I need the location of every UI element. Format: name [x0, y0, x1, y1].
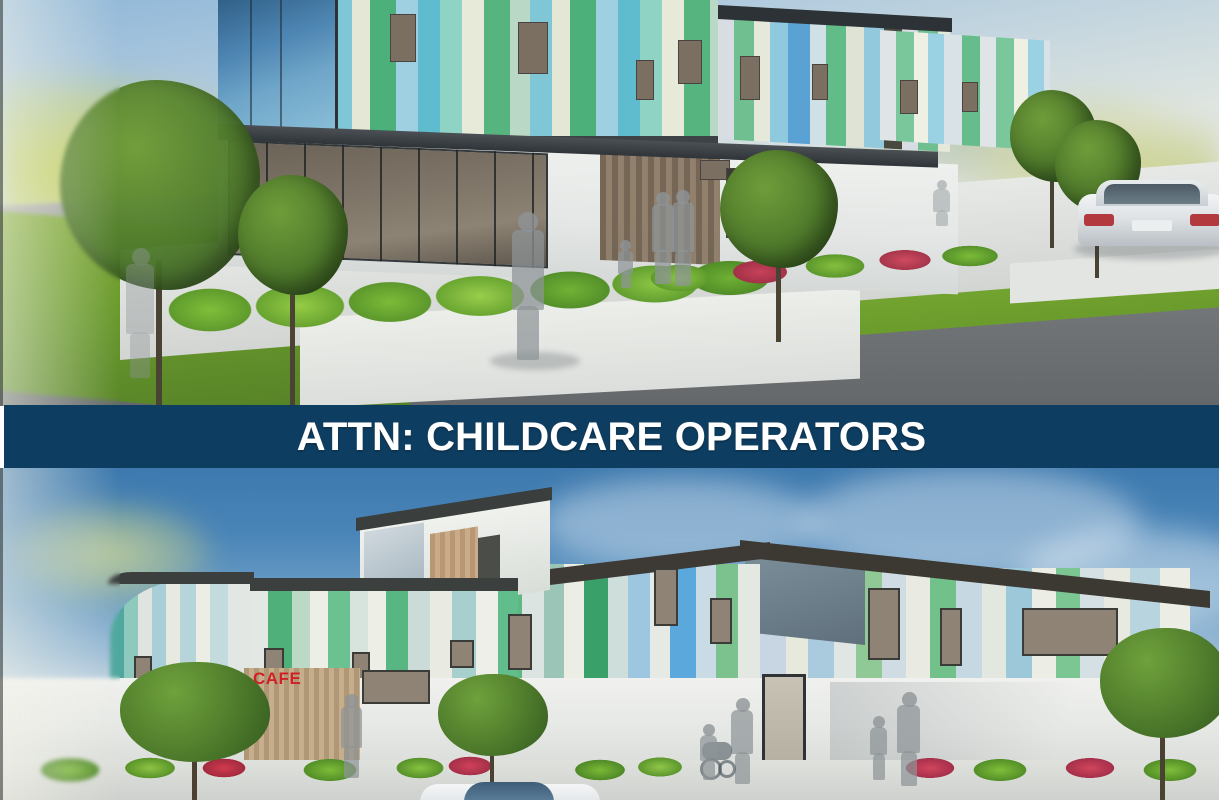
- car-numberplate: [1132, 220, 1172, 231]
- tree-canopy: [238, 175, 348, 295]
- pedestrian-group-far: [930, 180, 958, 226]
- pedestrian-legs: [703, 759, 715, 780]
- wall-window-lower-right: [362, 670, 430, 704]
- car-taillight-left: [1084, 214, 1114, 226]
- pedestrian-group-entry-b: [668, 190, 698, 286]
- pedestrian-body: [672, 202, 694, 252]
- window-upper-3: [678, 40, 702, 84]
- window-lower-7: [710, 598, 732, 644]
- pedestrian-legs: [901, 751, 917, 786]
- pedestrian-body: [700, 735, 717, 761]
- pedestrian-lower-child-right: [868, 716, 890, 780]
- pedestrian-body: [618, 250, 633, 274]
- roof-left-panel: [246, 578, 518, 591]
- pedestrian-legs: [517, 306, 539, 360]
- pedestrian-body: [897, 705, 920, 753]
- window-upper-8: [962, 82, 978, 112]
- pedestrian-pair-left: [120, 248, 164, 378]
- pedestrian-legs: [936, 210, 948, 226]
- window-upper-1: [390, 14, 416, 62]
- tree-canopy: [120, 662, 270, 762]
- car-lower: [420, 774, 600, 800]
- pedestrian-legs: [675, 250, 691, 286]
- pram-wheel-right: [718, 760, 736, 778]
- poster-canvas: ATTN: CHILDCARE OPERATORS: [0, 0, 1219, 800]
- car-windscreen: [464, 782, 554, 800]
- garden-bed-side-upper: [640, 244, 1060, 304]
- pedestrian-child-entry: [616, 240, 636, 288]
- attention-banner: ATTN: CHILDCARE OPERATORS: [4, 405, 1219, 468]
- window-lower-5: [508, 614, 532, 670]
- roof-curved-end: [108, 572, 254, 584]
- window-lower-8: [868, 588, 900, 660]
- pedestrian-body: [512, 230, 544, 310]
- pedestrian-legs: [130, 332, 150, 378]
- car-upper: [1078, 180, 1219, 262]
- window-lower-6: [654, 568, 678, 626]
- pedestrian-legs: [344, 746, 359, 778]
- top-render-image: [0, 0, 1219, 406]
- pedestrian-foreground: [508, 212, 548, 360]
- pedestrian-body: [870, 727, 887, 755]
- window-upper-4: [636, 60, 654, 100]
- window-lower-4: [450, 640, 474, 668]
- window-upper-5: [740, 56, 760, 100]
- car-rear-window: [1104, 184, 1200, 204]
- pedestrian-lower-cafe: [338, 694, 366, 778]
- tree-lower-right: [1100, 628, 1219, 798]
- window-lower-9: [940, 608, 962, 666]
- pedestrian-legs: [873, 753, 885, 780]
- pedestrian-lower-adult-right: [894, 692, 924, 786]
- banner-headline: ATTN: CHILDCARE OPERATORS: [297, 417, 926, 457]
- window-upper-6: [812, 64, 828, 100]
- pedestrian-body: [126, 264, 154, 334]
- tree-lower-left: [120, 662, 270, 800]
- pedestrian-body: [933, 189, 950, 212]
- pedestrian-legs: [621, 272, 631, 288]
- pedestrian-body: [341, 706, 362, 748]
- pedestrian-head: [518, 212, 538, 232]
- curtain-wall-mullions: [250, 0, 310, 144]
- window-upper-2: [518, 22, 548, 74]
- tree-canopy: [1100, 628, 1219, 738]
- tree-canopy: [720, 150, 838, 268]
- car-taillight-right: [1190, 214, 1219, 226]
- pedestrian-lower-child: [698, 724, 720, 780]
- tree-canopy: [438, 674, 548, 756]
- window-upper-7: [900, 80, 918, 114]
- bottom-render-image: CAFE: [0, 468, 1219, 800]
